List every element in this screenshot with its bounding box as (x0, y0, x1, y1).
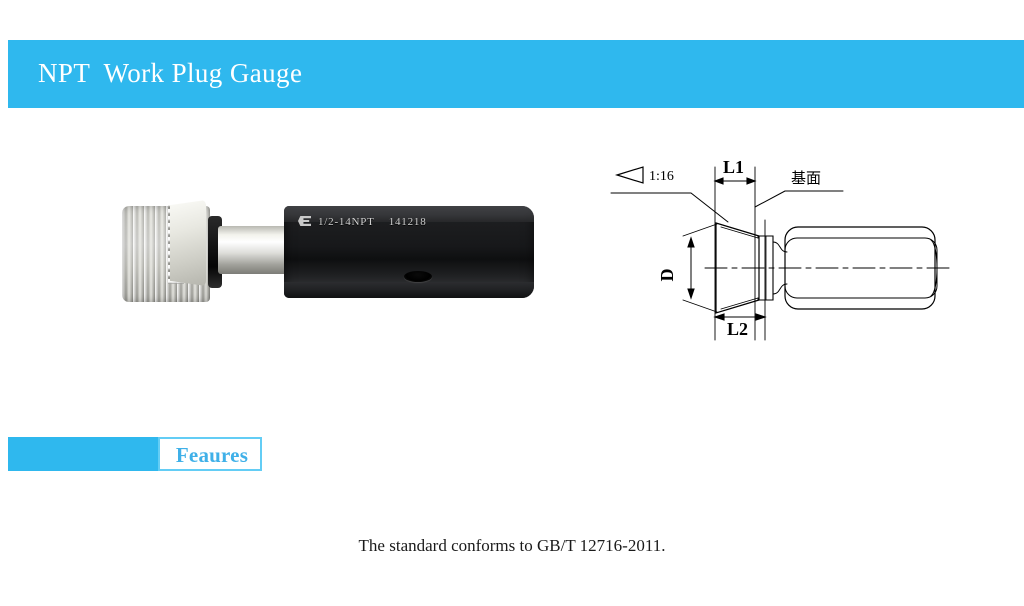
handle-bottom-bevel (284, 282, 534, 298)
dimension-l1-label: L1 (723, 157, 744, 177)
dimension-d-label: D (657, 269, 677, 282)
taper-1-16-icon (617, 167, 643, 183)
tech-drawing: 1:16 基面 L1 L2 D (595, 150, 975, 355)
page-title: NPT Work Plug Gauge (38, 58, 302, 89)
features-heading-box: Feaures (158, 437, 262, 471)
engraved-spec-text: 1/2-14NPT 141218 (318, 216, 427, 228)
brand-logo-icon (298, 216, 311, 226)
standard-conformance-note: The standard conforms to GB/T 12716-2011… (0, 536, 1024, 556)
product-photo: 1/2-14NPT 141218 (112, 190, 542, 315)
datum-plane-label: 基面 (791, 170, 821, 187)
handle-cross-hole (404, 271, 432, 282)
gauge-neck (218, 226, 288, 274)
features-accent-bar (8, 437, 168, 471)
features-heading-label: Feaures (160, 439, 264, 473)
thread-end-face (170, 200, 206, 286)
dimension-l2-label: L2 (727, 319, 748, 339)
taper-ratio-label: 1:16 (649, 169, 674, 184)
